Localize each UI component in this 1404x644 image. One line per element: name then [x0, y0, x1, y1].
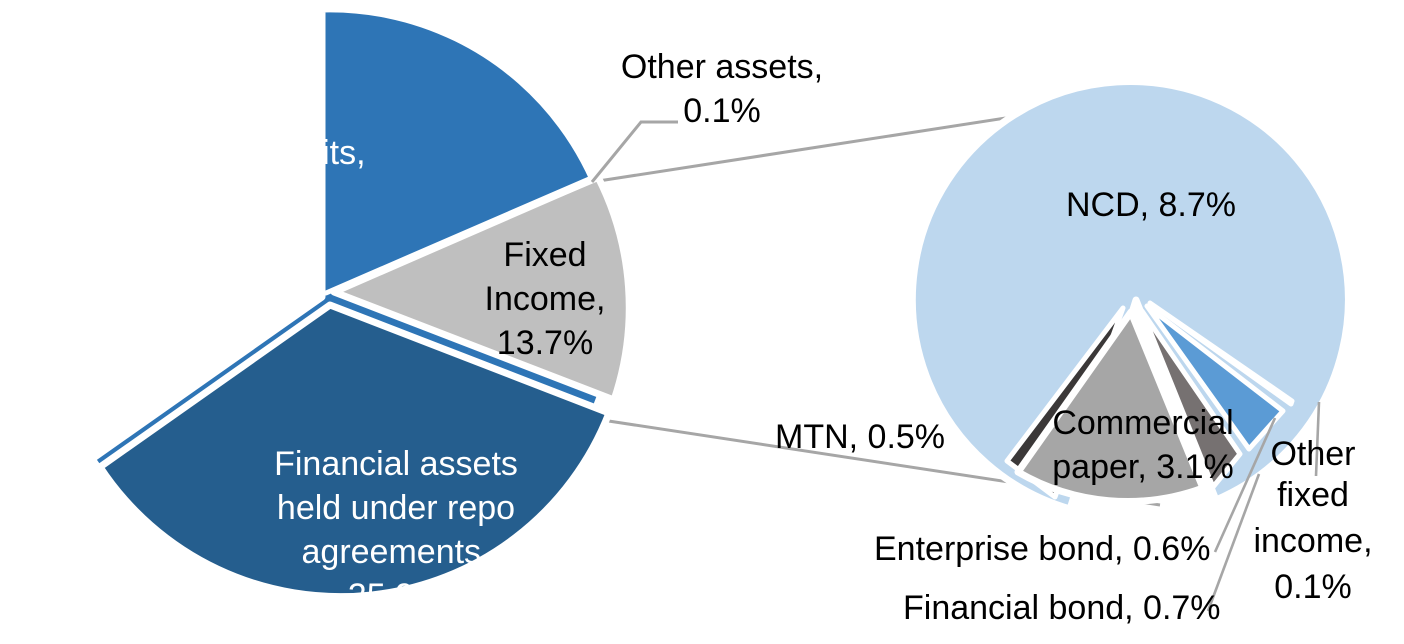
label-repo-assets-line3: agreements,	[302, 533, 491, 571]
label-commercial-paper-line2: paper, 3.1%	[1052, 448, 1233, 486]
label-mtn: MTN, 0.5%	[775, 418, 945, 456]
label-fixed-income-line3: 13.7%	[497, 324, 593, 362]
label-bank-deposits-line1: Bank deposits,	[142, 134, 365, 172]
label-enterprise-bond: Enterprise bond, 0.6%	[874, 530, 1210, 568]
label-other-assets-line1: Other assets,	[621, 48, 823, 86]
label-other-assets-line2: 0.1%	[683, 92, 761, 130]
label-repo-assets-line1: Financial assets	[274, 445, 518, 483]
label-repo-assets-line2: held under repo	[277, 489, 515, 527]
label-fixed-income-line2: Income,	[485, 280, 606, 318]
pie-chart-figure: Bank deposits, 60.3% Financial assets he…	[0, 0, 1404, 644]
label-other-fixed-income-line2: fixed	[1277, 476, 1349, 514]
label-repo-assets-line4: 25.9%	[348, 577, 444, 615]
label-bank-deposits-line2: 60.3%	[206, 178, 302, 216]
label-other-fixed-income-line1: Other	[1270, 435, 1355, 473]
label-commercial-paper-line1: Commercial	[1052, 404, 1233, 442]
label-ncd: NCD, 8.7%	[1066, 186, 1236, 224]
label-financial-bond: Financial bond, 0.7%	[903, 589, 1221, 627]
label-fixed-income-line1: Fixed	[503, 236, 586, 274]
label-other-fixed-income-line3: income,	[1253, 522, 1372, 560]
label-other-fixed-income-line4: 0.1%	[1274, 568, 1352, 606]
leader-line-other-assets	[592, 122, 678, 182]
chart-canvas: Bank deposits, 60.3% Financial assets he…	[0, 0, 1404, 644]
